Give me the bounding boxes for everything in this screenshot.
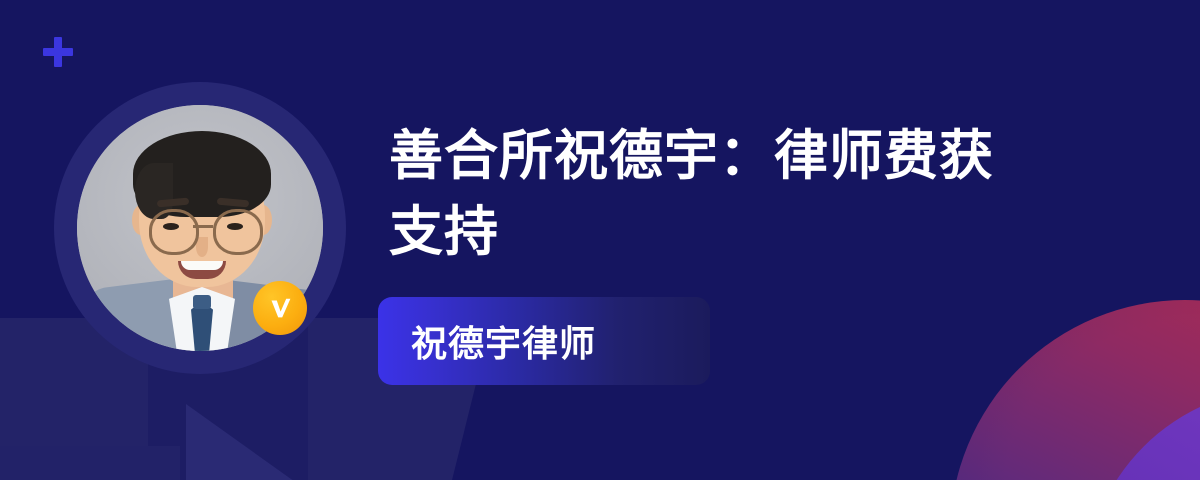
- portrait-tie-knot: [193, 295, 211, 309]
- portrait-glasses-left: [149, 209, 199, 255]
- avatar: [54, 82, 346, 374]
- verified-v-badge-icon: [253, 281, 307, 335]
- decorative-triangle: [186, 404, 354, 480]
- portrait-teeth: [181, 261, 223, 270]
- lawyer-name-button[interactable]: 祝德宇律师: [378, 297, 710, 385]
- portrait-glasses-right: [213, 209, 263, 255]
- portrait-glasses-bridge: [193, 225, 213, 228]
- decorative-glow-inner: [1085, 388, 1200, 480]
- page-title: 善合所祝德宇：律师费获 支持: [389, 118, 1089, 270]
- content-block: 善合所祝德宇：律师费获 支持 祝德宇律师: [389, 118, 1089, 385]
- decorative-slab-bottom: [0, 446, 180, 480]
- lawyer-promo-banner: 善合所祝德宇：律师费获 支持 祝德宇律师: [0, 0, 1200, 480]
- plus-icon: [43, 37, 73, 67]
